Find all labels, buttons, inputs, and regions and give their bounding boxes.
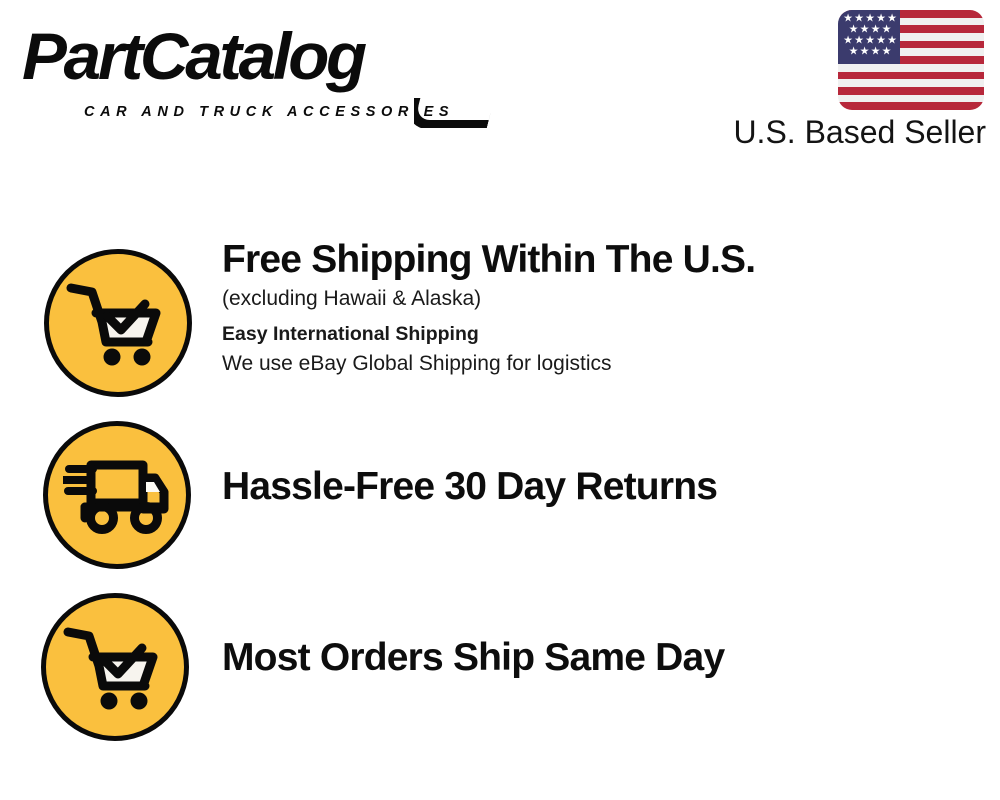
brand-wordmark: PartCatalog xyxy=(22,18,364,94)
feature-row: Free Shipping Within The U.S. (excluding… xyxy=(0,232,1000,402)
feature-row: Hassle-Free 30 Day Returns xyxy=(0,421,1000,571)
us-based-seller-badge: ★ ★ ★ ★ ★ ★ ★ ★ ★ ★ ★ ★ ★ ★ ★ ★ ★ ★ U.S.… xyxy=(714,8,986,163)
feature-secondary-subtitle: We use eBay Global Shipping for logistic… xyxy=(222,349,962,379)
feature-text-block: Free Shipping Within The U.S. (excluding… xyxy=(222,236,962,379)
brand-tagline: CAR AND TRUCK ACCESSORIES xyxy=(84,104,454,120)
feature-title: Free Shipping Within The U.S. xyxy=(222,236,962,284)
fast-delivery-truck-icon xyxy=(43,421,191,569)
flag-stars: ★ ★ ★ ★ ★ ★ ★ ★ ★ ★ ★ ★ ★ ★ ★ ★ ★ ★ xyxy=(838,10,900,64)
feature-text-block: Hassle-Free 30 Day Returns xyxy=(222,463,962,511)
us-flag-icon: ★ ★ ★ ★ ★ ★ ★ ★ ★ ★ ★ ★ ★ ★ ★ ★ ★ ★ xyxy=(838,10,984,110)
banner-header: PartCatalog CAR AND TRUCK ACCESSORIES xyxy=(0,0,1000,170)
feature-text-block: Most Orders Ship Same Day xyxy=(222,634,962,682)
feature-secondary-title: Easy International Shipping xyxy=(222,320,962,349)
brand-logo: PartCatalog CAR AND TRUCK ACCESSORIES xyxy=(22,18,492,118)
shopping-cart-check-icon xyxy=(44,249,192,397)
us-based-seller-label: U.S. Based Seller xyxy=(714,112,988,152)
shopping-cart-check-icon xyxy=(41,593,189,741)
feature-subtitle: (excluding Hawaii & Alaska) xyxy=(222,284,962,314)
feature-title: Hassle-Free 30 Day Returns xyxy=(222,463,962,511)
feature-title: Most Orders Ship Same Day xyxy=(222,634,962,682)
feature-row: Most Orders Ship Same Day xyxy=(0,593,1000,743)
